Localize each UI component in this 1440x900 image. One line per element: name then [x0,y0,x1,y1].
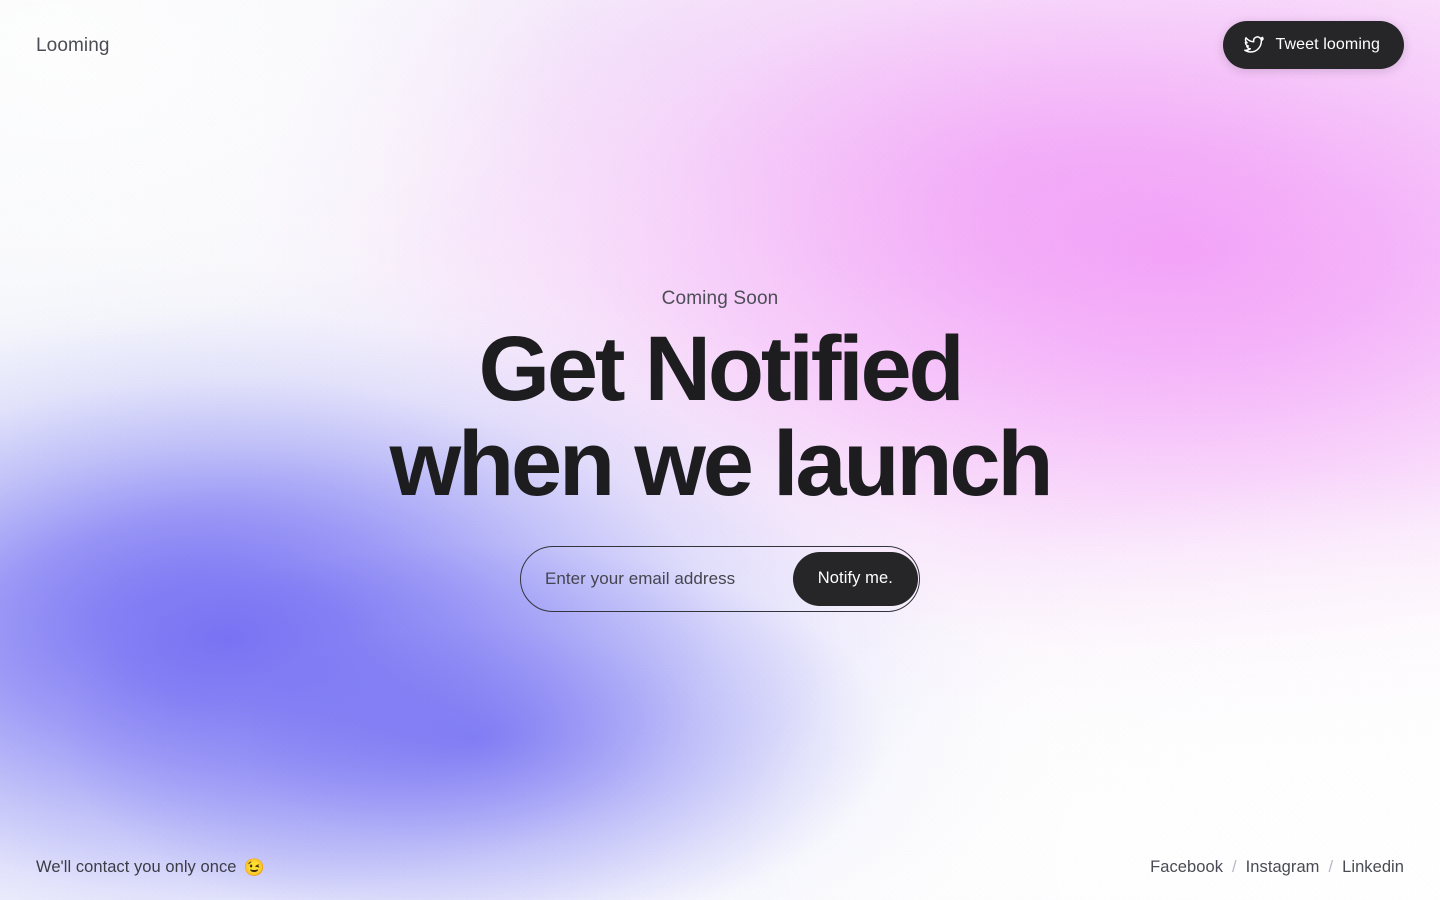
hero-section: Coming Soon Get Notified when we launch … [0,0,1440,900]
twitter-bird-icon [1243,34,1265,56]
social-link-instagram[interactable]: Instagram [1246,858,1320,877]
headline-line-2: when we launch [390,417,1051,512]
subscribe-form: Notify me. [520,546,920,612]
link-separator: / [1328,858,1333,877]
social-links: Facebook / Instagram / Linkedin [1150,858,1404,877]
social-link-linkedin[interactable]: Linkedin [1342,858,1404,877]
tweet-button[interactable]: Tweet looming [1223,21,1404,69]
link-separator: / [1232,858,1237,877]
eyebrow-text: Coming Soon [662,288,779,310]
tweet-button-label: Tweet looming [1276,37,1380,53]
winking-face-emoji: 😉 [243,859,264,876]
headline-line-1: Get Notified [390,322,1051,417]
contact-note: We'll contact you only once 😉 [36,858,265,877]
page-title: Get Notified when we launch [390,322,1051,512]
brand-logo[interactable]: Looming [36,36,110,55]
site-header: Looming Tweet looming [0,0,1440,90]
social-link-facebook[interactable]: Facebook [1150,858,1223,877]
landing-page: Looming Tweet looming Coming Soon Get No… [0,0,1440,900]
email-input[interactable] [545,547,793,611]
site-footer: We'll contact you only once 😉 Facebook /… [0,834,1440,900]
notify-me-button[interactable]: Notify me. [793,552,918,606]
contact-note-text: We'll contact you only once [36,858,236,877]
